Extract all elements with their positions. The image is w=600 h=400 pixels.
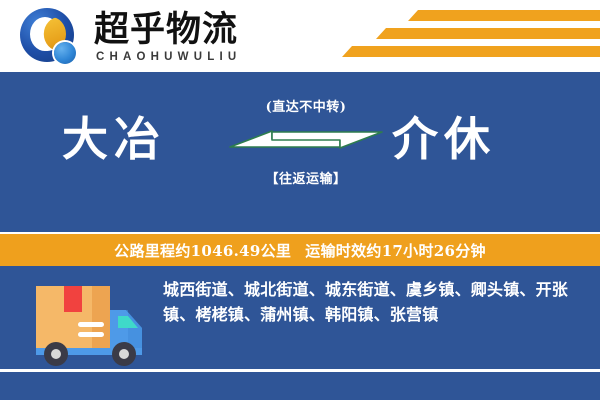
header-stripe-3 <box>342 46 600 57</box>
brand-name-en: CHAOHUWULIU <box>94 51 241 63</box>
header-stripe-1 <box>408 10 600 21</box>
route-panel: 大冶 (直达不中转) 【往返运输】 介休 <box>0 76 600 232</box>
route-middle-block: (直达不中转) 【往返运输】 <box>228 94 384 214</box>
distance-label: 公路里程约1046.49公里 <box>114 240 291 261</box>
route-note-direct: (直达不中转) <box>228 96 384 115</box>
brand-text-block: 超乎物流 CHAOHUWULIU <box>94 11 241 63</box>
circle-crescent-logo-icon <box>20 6 82 68</box>
coverage-panel: 城西街道、城北街道、城东街道、虞乡镇、卿头镇、开张镇、栲栳镇、蒲州镇、韩阳镇、张… <box>0 266 600 400</box>
bidirectional-arrow-icon <box>228 120 384 158</box>
header-stripes-decoration <box>340 8 600 68</box>
duration-label: 运输时效约17小时26分钟 <box>305 240 486 261</box>
logo-dot-shape <box>54 42 76 64</box>
delivery-truck-icon <box>22 274 154 370</box>
brand-name-cn: 超乎物流 <box>94 11 241 49</box>
destination-city-label: 介休 <box>392 116 496 162</box>
route-info-bar: 公路里程约1046.49公里 运输时效约17小时26分钟 <box>0 234 600 266</box>
road-line-decoration <box>0 369 600 372</box>
route-note-roundtrip: 【往返运输】 <box>228 168 384 187</box>
coverage-areas-text: 城西街道、城北街道、城东街道、虞乡镇、卿头镇、开张镇、栲栳镇、蒲州镇、韩阳镇、张… <box>163 278 581 328</box>
logistics-route-poster: 超乎物流 CHAOHUWULIU 大冶 (直达不中转) <box>0 0 600 400</box>
brand-lockup: 超乎物流 CHAOHUWULIU <box>20 6 241 68</box>
header-stripe-2 <box>376 28 600 39</box>
origin-city-label: 大冶 <box>62 116 166 162</box>
poster-header: 超乎物流 CHAOHUWULIU <box>0 0 600 76</box>
